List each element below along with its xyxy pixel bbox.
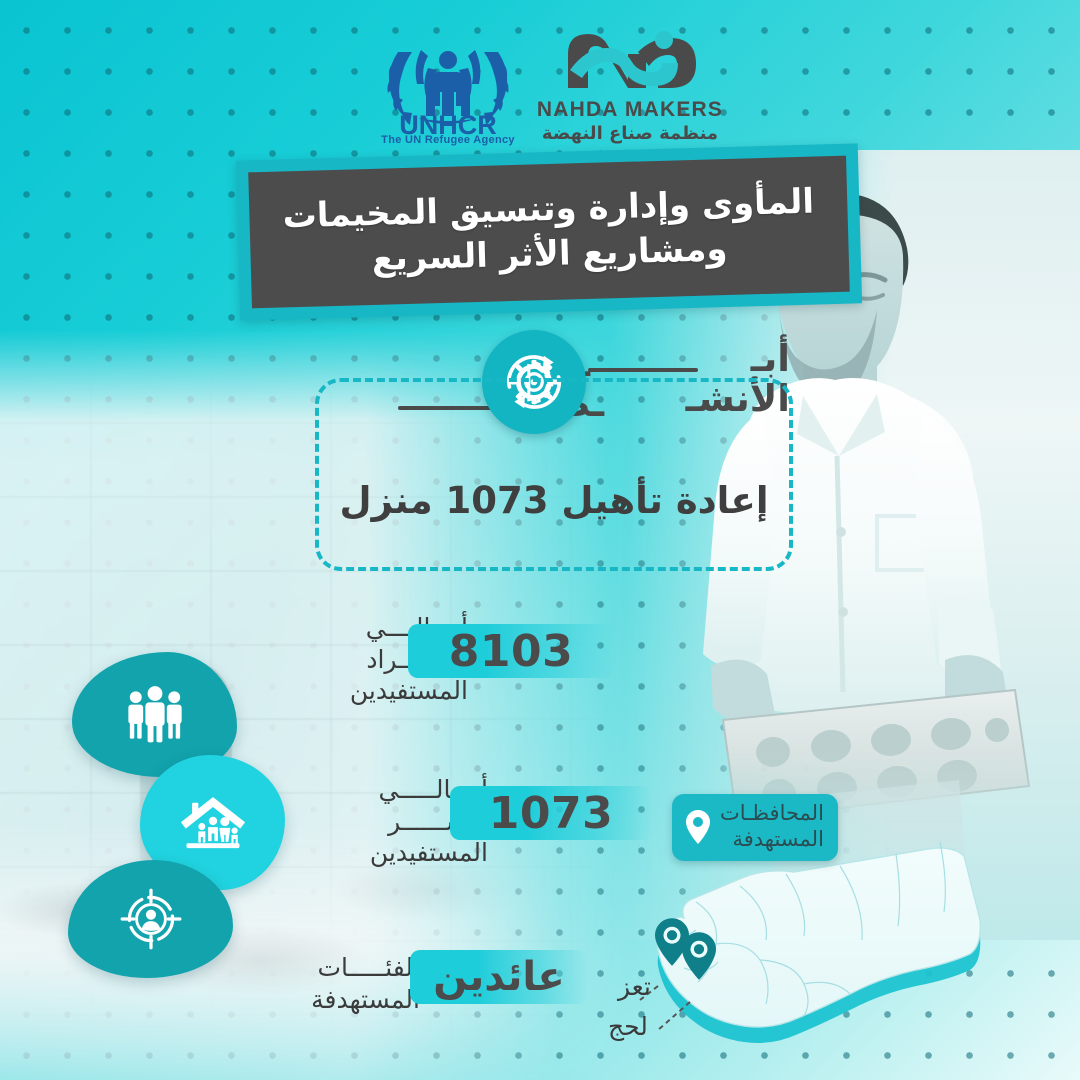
target-person-glyph (115, 883, 187, 955)
stat-label-3: الفئـــــات المستهدفة (296, 952, 420, 1015)
city-label-taiz: تعز (618, 972, 651, 1001)
unhcr-tagline: The UN Refugee Agency (358, 134, 538, 146)
map-pin-icon (686, 810, 710, 844)
nahda-makers-name-ar: منظمة صناع النهضة (520, 123, 740, 144)
map-pin-icon-lahj (682, 932, 716, 980)
nahda-makers-name-en: NAHDA MAKERS (520, 98, 740, 122)
title-banner: المأوى وإدارة وتنسيق المخيمات ومشاريع ال… (238, 152, 860, 312)
activity-highlight-text: إعادة تأهيل 1073 منزل (340, 479, 769, 522)
stat-value-1: 8103 (408, 624, 614, 678)
stat-value-3-text: عائدين (433, 954, 564, 1000)
city-label-lahj: لحج (608, 1012, 648, 1041)
activities-heading-part1: أبـ (751, 340, 790, 379)
unhcr-logo-mark: UNHCR (358, 22, 538, 142)
targeted-governorates-label: المحافظـات المستهدفة (720, 801, 824, 852)
group-people-glyph (118, 686, 192, 744)
targeted-governorates-map: المحافظـات المستهدفة تعز لحج (600, 790, 1080, 1080)
nahda-makers-logo-mark (520, 28, 740, 92)
activity-highlight-box: إعادة تأهيل 1073 منزل (315, 378, 793, 571)
stat-value-1-text: 8103 (449, 626, 573, 677)
infographic-poster: UNHCR The UN Refugee Agency NAHDA MAKERS… (0, 0, 1080, 1080)
targeted-governorates-badge: المحافظـات المستهدفة (672, 794, 838, 861)
page-title: المأوى وإدارة وتنسيق المخيمات ومشاريع ال… (268, 179, 830, 284)
stat-value-3: عائدين (410, 950, 588, 1004)
unhcr-logo: UNHCR The UN Refugee Agency (358, 22, 538, 142)
heading-rule-top (588, 368, 698, 372)
nahda-makers-logo: NAHDA MAKERS منظمة صناع النهضة (520, 28, 740, 136)
stat-value-2-text: 1073 (489, 788, 613, 839)
family-house-glyph (178, 793, 248, 853)
title-banner-panel: المأوى وإدارة وتنسيق المخيمات ومشاريع ال… (248, 156, 850, 309)
